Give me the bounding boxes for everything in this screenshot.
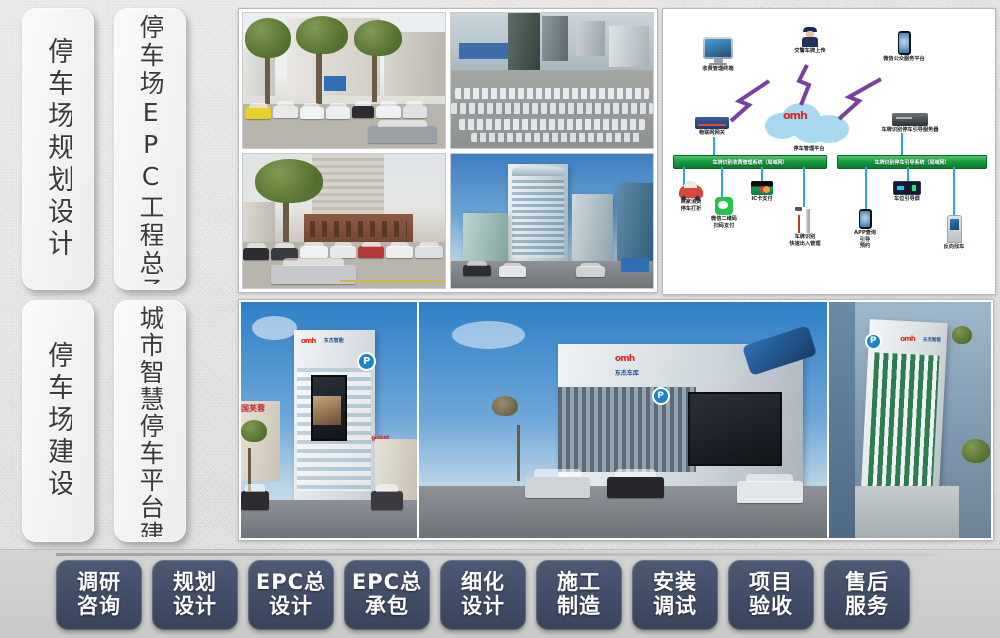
- cloud-platform-label: 停车管理平台: [769, 145, 849, 153]
- barrier-gate-icon: [795, 207, 815, 233]
- process-steps-bar: 调研 咨询 规划 设计 EPC总 设计 EPC总 承包 细化 设计 施工 制造 …: [0, 549, 1000, 638]
- smartphone-icon: [898, 31, 911, 55]
- node-police: 交警车牌上传: [781, 27, 839, 55]
- render-sign-left: 国芙蓉: [241, 403, 265, 414]
- step-research-consulting[interactable]: 调研 咨询: [56, 560, 142, 630]
- step-epc-design[interactable]: EPC总 设计: [248, 560, 334, 630]
- police-officer-icon: [802, 27, 818, 47]
- network-diagram-panel: omh 停车管理平台 收费管理终端 交警车牌上传: [662, 8, 996, 295]
- endpoint-barrier-gate: 车牌识别 快速出入管理: [777, 207, 833, 247]
- guide-screen-icon: [893, 181, 921, 195]
- omh-logo: omh: [900, 335, 915, 343]
- sidebar-card-parking-planning-design[interactable]: 停车场规划设计: [22, 8, 94, 290]
- parking-badge-icon: P: [652, 387, 670, 405]
- billboard: [688, 392, 782, 467]
- photo-aerial-parking-lot: [450, 12, 654, 149]
- system-bar-parking-guidance: 车牌识别停车引导系统（局域网）: [837, 155, 987, 169]
- render-aerial-tower: omh 东杰智能 P: [829, 302, 991, 538]
- render-brand-sub: 东杰智能: [923, 337, 941, 343]
- render-multistory-garage: omh 东杰车库 P: [419, 302, 827, 538]
- step-planning-design[interactable]: 规划 设计: [152, 560, 238, 630]
- sidebar-card-label: 停车场建设: [44, 341, 72, 501]
- app-phone-icon: [859, 209, 872, 229]
- step-after-sales-service[interactable]: 售后 服务: [824, 560, 910, 630]
- photo-grid-panel: [238, 8, 658, 293]
- ic-card-icon: [751, 181, 773, 195]
- wechat-icon: [715, 197, 733, 215]
- render-brand-sub: 东杰车库: [615, 368, 639, 377]
- kiosk-icon: [947, 215, 962, 243]
- sidebar-card-label: 停车场EPC工程总承包: [137, 14, 163, 285]
- step-detailed-design[interactable]: 细化 设计: [440, 560, 526, 630]
- endpoint-reverse-car-finding: 反向找车: [931, 215, 977, 251]
- lightning-connector-icon: [795, 63, 817, 107]
- photo-parking-lot-brick-building: [242, 153, 446, 290]
- step-installation-commissioning[interactable]: 安装 调试: [632, 560, 718, 630]
- sidebar-card-parking-construction[interactable]: 停车场建设: [22, 300, 94, 542]
- monitor-icon: [703, 37, 733, 65]
- parking-badge-icon: P: [357, 352, 376, 371]
- lightning-connector-icon: [837, 77, 885, 123]
- omh-logo: omh: [301, 337, 316, 345]
- lightning-connector-icon: [729, 77, 775, 123]
- node-wechat-platform: 微信公众服务平台: [865, 31, 943, 63]
- endpoint-guide-screen: 车位引导屏: [881, 181, 933, 203]
- server-icon: [892, 113, 928, 126]
- step-project-acceptance[interactable]: 项目 验收: [728, 560, 814, 630]
- step-epc-contracting[interactable]: EPC总 承包: [344, 560, 430, 630]
- parking-badge-icon: P: [865, 333, 882, 350]
- node-monitor: 收费管理终端: [687, 37, 749, 73]
- photo-surface-parking-lot-trees: [242, 12, 446, 149]
- sidebar-card-parking-epc-contracting[interactable]: 停车场EPC工程总承包: [114, 8, 186, 290]
- endpoint-ic-card-pay: IC卡支付: [741, 181, 783, 203]
- sidebar: 停车场规划设计 停车场EPC工程总承包 停车场建设 城市智慧停车平台建设: [0, 0, 232, 552]
- photo-office-tower-street: [450, 153, 654, 290]
- sidebar-card-smart-parking-platform[interactable]: 城市智慧停车平台建设: [114, 300, 186, 542]
- process-steps-list: 调研 咨询 规划 设计 EPC总 设计 EPC总 承包 细化 设计 施工 制造 …: [56, 560, 990, 630]
- render-brand-sub: 东杰智能: [324, 337, 344, 344]
- omh-logo: omh: [783, 109, 807, 122]
- endpoint-app-services: APP查询 引导 预约: [841, 209, 889, 250]
- render-panel: omh 东杰智能 P 国芙蓉 休闲城 omh 东杰车库 P: [238, 299, 994, 541]
- sidebar-card-label: 城市智慧停车平台建设: [137, 305, 163, 537]
- omh-logo: omh: [615, 354, 635, 364]
- step-construction-manufacturing[interactable]: 施工 制造: [536, 560, 622, 630]
- main-content: omh 停车管理平台 收费管理终端 交警车牌上传: [238, 8, 994, 541]
- router-icon: [695, 117, 729, 129]
- render-tower-garage: omh 东杰智能 P 国芙蓉 休闲城: [241, 302, 417, 538]
- sidebar-card-label: 停车场规划设计: [44, 37, 72, 261]
